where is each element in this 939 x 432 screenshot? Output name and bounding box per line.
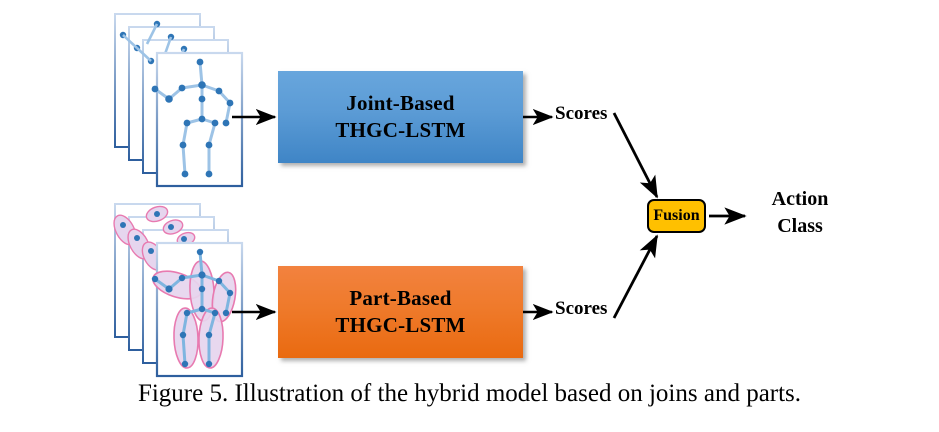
action-class-line1: Action — [752, 186, 848, 213]
joint-based-model-box[interactable]: Joint-Based THGC-LSTM — [278, 71, 523, 163]
part-scores-label: Scores — [555, 298, 607, 320]
joint-scores-label: Scores — [555, 103, 607, 125]
figure-canvas: Joint-Based THGC-LSTM Part-Based THGC-LS… — [0, 0, 939, 432]
part-skeleton-sequence — [85, 192, 260, 382]
fusion-label: Fusion — [653, 207, 699, 225]
action-class-line2: Class — [752, 213, 848, 240]
joint-box-line2: THGC-LSTM — [335, 117, 465, 144]
part-box-line2: THGC-LSTM — [335, 312, 465, 339]
fusion-box[interactable]: Fusion — [647, 199, 706, 233]
joint-skeleton-sequence — [85, 2, 260, 192]
part-box-line1: Part-Based — [349, 285, 451, 312]
arrow-joint-scores-to-fusion — [614, 113, 657, 197]
action-class-output: Action Class — [752, 186, 848, 240]
figure-caption: Figure 5. Illustration of the hybrid mod… — [0, 380, 939, 408]
arrow-part-scores-to-fusion — [614, 236, 657, 318]
part-based-model-box[interactable]: Part-Based THGC-LSTM — [278, 266, 523, 358]
joint-box-line1: Joint-Based — [346, 90, 454, 117]
